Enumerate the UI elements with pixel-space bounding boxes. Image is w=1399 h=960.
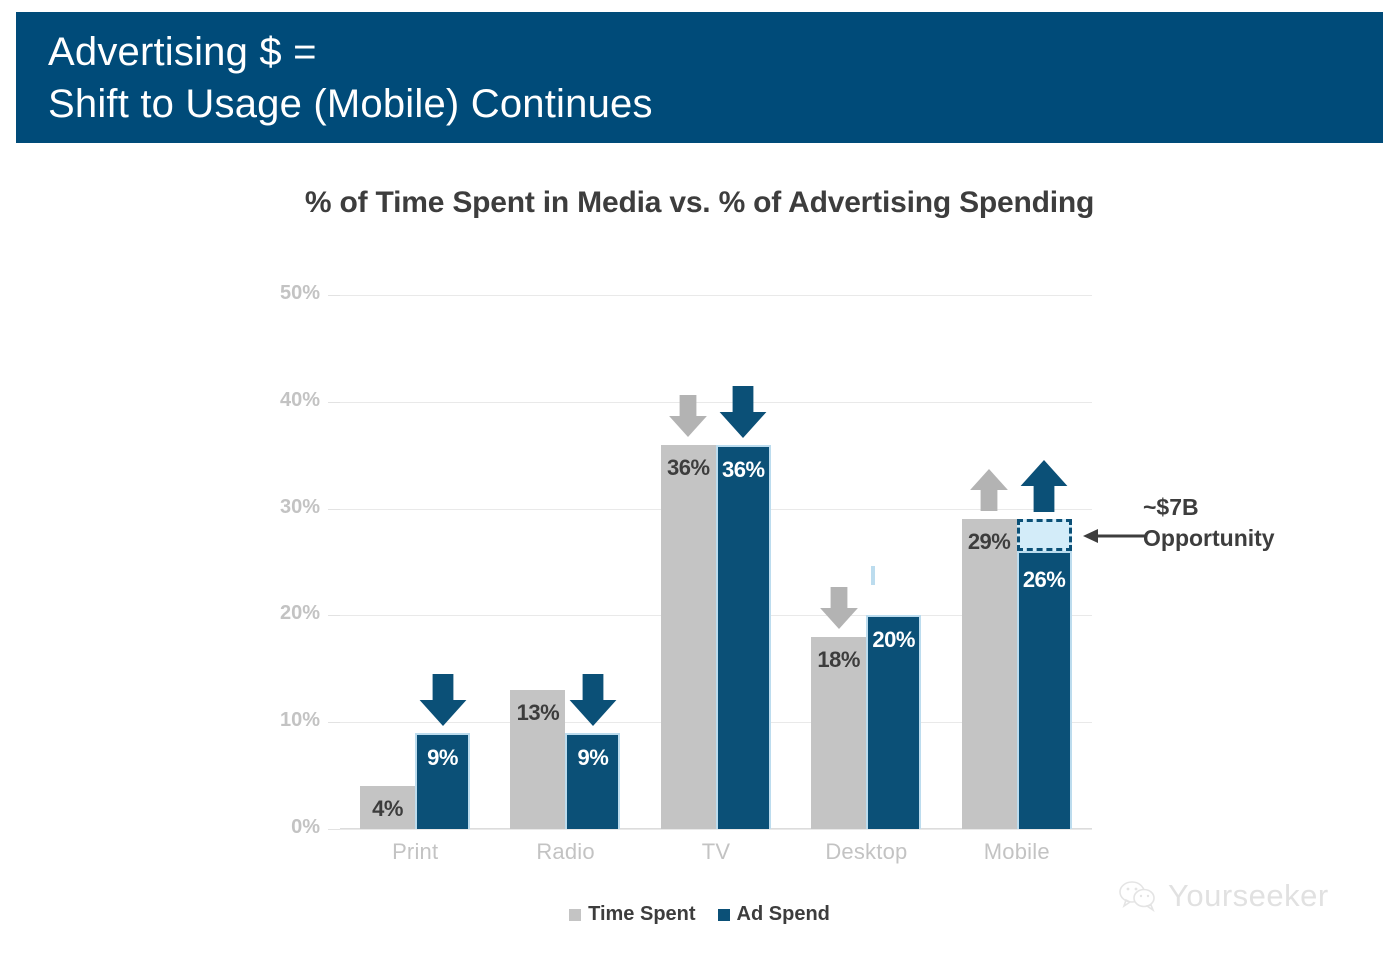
y-tick-label: 30% [258,496,320,519]
trend-equals-icon [871,567,917,585]
bar-tv-ad-spend[interactable]: 36% [716,445,771,829]
bar-value-label: 13% [510,700,565,726]
header-title-line-1: Advertising $ = [48,26,1383,78]
gridline [340,829,1092,830]
y-tick-mark [328,402,340,403]
header-title-line-2: Shift to Usage (Mobile) Continues [48,78,1383,130]
y-tick-mark [328,829,340,830]
y-tick-label: 10% [258,709,320,732]
opportunity-box [1017,519,1072,551]
x-axis-label-tv: TV [641,839,791,865]
y-tick-label: 0% [258,816,320,839]
legend-label-time-spent: Time Spent [588,903,695,926]
y-tick-mark [328,615,340,616]
opportunity-callout: ~$7B Opportunity [1143,492,1373,554]
y-tick-label: 40% [258,389,320,412]
bar-value-label: 9% [567,745,618,771]
bar-value-label: 26% [1019,567,1070,593]
chart-title: % of Time Spent in Media vs. % of Advert… [0,186,1399,220]
gridline [340,295,1092,296]
legend-swatch-time-spent [569,909,581,921]
trend-down-arrow-icon [818,583,860,638]
opportunity-label: Opportunity [1143,523,1373,554]
trend-down-arrow-icon [667,391,709,446]
trend-down-arrow-icon [567,671,619,734]
x-axis-label-radio: Radio [490,839,640,865]
legend-label-ad-spend: Ad Spend [737,903,830,926]
y-tick-label: 50% [258,282,320,305]
bar-mobile-ad-spend[interactable]: 26% [1017,551,1072,829]
bar-value-label: 36% [661,455,716,481]
y-tick-mark [328,509,340,510]
bar-print-ad-spend[interactable]: 9% [415,733,470,829]
bar-desktop-time-spent[interactable]: 18% [811,637,866,829]
equals-bar-bottom [873,566,875,585]
slide-header-banner: Advertising $ = Shift to Usage (Mobile) … [16,12,1383,143]
opportunity-arrow-icon [1083,528,1145,544]
legend-item-ad-spend[interactable]: Ad Spend [718,903,830,926]
legend-item-time-spent[interactable]: Time Spent [569,903,695,926]
gridline [340,402,1092,403]
bar-mobile-time-spent[interactable]: 29% [962,519,1017,829]
y-tick-mark [328,722,340,723]
plot-area: 4%9%13%9%36%36%18%20%29%26% [340,295,1092,829]
x-axis-label-print: Print [340,839,490,865]
opportunity-amount: ~$7B [1143,492,1373,523]
bar-radio-ad-spend[interactable]: 9% [565,733,620,829]
bar-radio-time-spent[interactable]: 13% [510,690,565,829]
bar-value-label: 20% [868,627,919,653]
x-axis-label-desktop: Desktop [791,839,941,865]
y-tick-mark [328,295,340,296]
bar-value-label: 9% [417,745,468,771]
trend-down-arrow-icon [717,383,769,446]
bar-tv-time-spent[interactable]: 36% [661,445,716,829]
y-tick-label: 20% [258,602,320,625]
bar-desktop-ad-spend[interactable]: 20% [866,615,921,829]
bar-value-label: 4% [360,796,415,822]
wechat-icon [1118,880,1158,912]
watermark-text: Yourseeker [1168,878,1329,914]
x-axis-label-mobile: Mobile [942,839,1092,865]
bar-print-time-spent[interactable]: 4% [360,786,415,829]
legend-swatch-ad-spend [718,909,730,921]
trend-down-arrow-icon [417,671,469,734]
trend-up-arrow-icon [968,465,1010,520]
bar-value-label: 18% [811,647,866,673]
bar-value-label: 36% [718,457,769,483]
trend-up-arrow-icon [1018,457,1070,520]
bar-value-label: 29% [962,529,1017,555]
watermark: Yourseeker [1118,878,1329,914]
